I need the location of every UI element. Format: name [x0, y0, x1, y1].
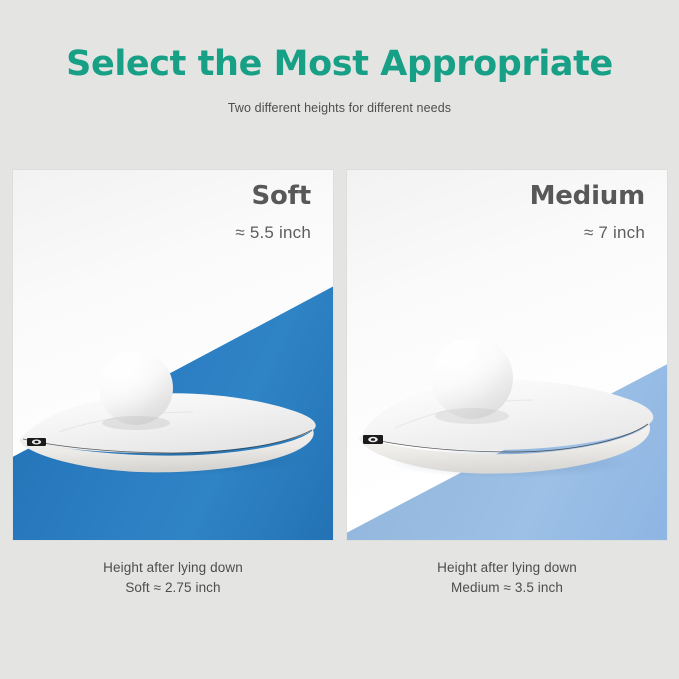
caption-soft: Height after lying down Soft ≈ 2.75 inch: [13, 558, 333, 598]
caption-medium: Height after lying down Medium ≈ 3.5 inc…: [347, 558, 667, 598]
pillow-ball-contact-shadow-soft: [102, 416, 170, 430]
page-header: Select the Most Appropriate Two differen…: [0, 0, 679, 115]
comparison-panels: Soft ≈ 5.5 inch: [13, 170, 667, 540]
panel-soft-labels: Soft ≈ 5.5 inch: [235, 182, 311, 243]
panel-medium[interactable]: Medium ≈ 7 inch: [347, 170, 667, 540]
product-comparison-page: Select the Most Appropriate Two differen…: [0, 0, 679, 679]
panel-soft-height: ≈ 5.5 inch: [235, 223, 311, 243]
panel-medium-name: Medium: [530, 182, 645, 211]
pillow-ball-highlight-medium: [431, 340, 513, 419]
page-title: Select the Most Appropriate: [0, 44, 679, 84]
pillow-brand-tag-medium: [363, 435, 383, 444]
panel-medium-height: ≈ 7 inch: [530, 223, 645, 243]
caption-medium-line2: Medium ≈ 3.5 inch: [347, 578, 667, 598]
pillow-ball-highlight-soft: [99, 351, 173, 425]
panel-soft-product-image: [13, 348, 333, 488]
panel-soft-name: Soft: [235, 182, 311, 211]
panel-soft[interactable]: Soft ≈ 5.5 inch: [13, 170, 333, 540]
panel-captions: Height after lying down Soft ≈ 2.75 inch…: [13, 558, 667, 598]
pillow-illustration-medium: [347, 340, 667, 490]
caption-soft-line2: Soft ≈ 2.75 inch: [13, 578, 333, 598]
panel-medium-labels: Medium ≈ 7 inch: [530, 182, 645, 243]
caption-soft-line1: Height after lying down: [13, 558, 333, 578]
pillow-illustration-soft: [13, 348, 333, 488]
caption-medium-line1: Height after lying down: [347, 558, 667, 578]
panel-medium-product-image: [347, 340, 667, 490]
pillow-brand-tag-soft: [27, 438, 46, 446]
pillow-ball-contact-shadow-medium: [435, 408, 509, 424]
page-subtitle: Two different heights for different need…: [0, 101, 679, 115]
